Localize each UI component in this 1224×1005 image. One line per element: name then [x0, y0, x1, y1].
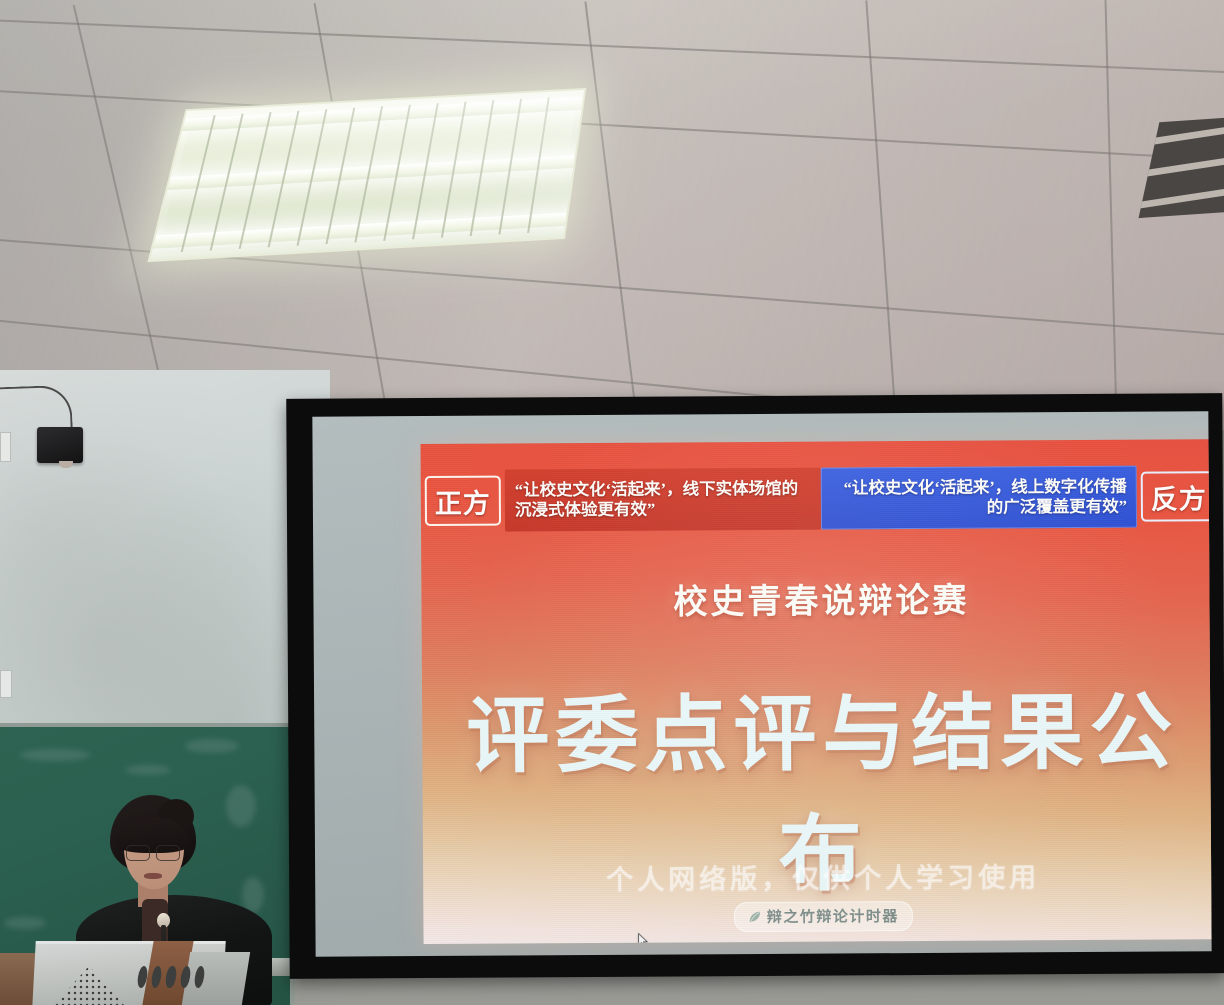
wall-mounted-speaker — [37, 427, 83, 463]
chalk-smudge — [125, 765, 171, 775]
slide-watermark: 个人网络版，仅供个人学习使用 — [423, 854, 1212, 898]
projector-screen-frame: 正方 “让校史文化‘活起来’，线下实体场馆的沉浸式体验更有效” “让校史文化‘活… — [286, 393, 1224, 979]
mouse-pointer-icon[interactable] — [638, 933, 649, 944]
glasses-icon — [126, 845, 180, 859]
chalk-smudge — [185, 739, 239, 753]
light-glare — [150, 90, 584, 260]
wall-outlet-plate — [0, 432, 11, 462]
projector-screen-surface: 正方 “让校史文化‘活起来’，线下实体场馆的沉浸式体验更有效” “让校史文化‘活… — [312, 411, 1211, 956]
presenter-mouth — [144, 873, 162, 879]
bamboo-leaf-icon — [748, 909, 762, 923]
debate-timer-label: 辩之竹辩论计时器 — [767, 905, 899, 927]
vent-slat — [1139, 181, 1224, 210]
con-side-badge: 反方 — [1141, 471, 1212, 521]
classroom-scene: 正方 “让校史文化‘活起来’，线下实体场馆的沉浸式体验更有效” “让校史文化‘活… — [0, 0, 1224, 1005]
pro-motion-text: “让校史文化‘活起来’，线下实体场馆的沉浸式体验更有效” — [505, 468, 821, 532]
ceiling-light-fixture — [147, 88, 586, 262]
debate-timer-badge: 辩之竹辩论计时器 — [734, 901, 913, 932]
debate-motions-row: 正方 “让校史文化‘活起来’，线下实体场馆的沉浸式体验更有效” “让校史文化‘活… — [421, 465, 1212, 532]
con-motion-text: “让校史文化‘活起来’，线上数字化传播的广泛覆盖更有效” — [821, 466, 1137, 530]
presentation-slide: 正方 “让校史文化‘活起来’，线下实体场馆的沉浸式体验更有效” “让校史文化‘活… — [421, 439, 1212, 944]
chalk-smudge — [20, 749, 90, 761]
pro-side-badge: 正方 — [425, 476, 501, 526]
slide-subtitle: 校史青春说辩论赛 — [421, 571, 1211, 625]
ceiling — [0, 0, 1224, 430]
chalk-smudge — [4, 917, 46, 929]
podium-vent-slots — [136, 966, 205, 988]
wall-outlet-plate — [0, 670, 12, 698]
